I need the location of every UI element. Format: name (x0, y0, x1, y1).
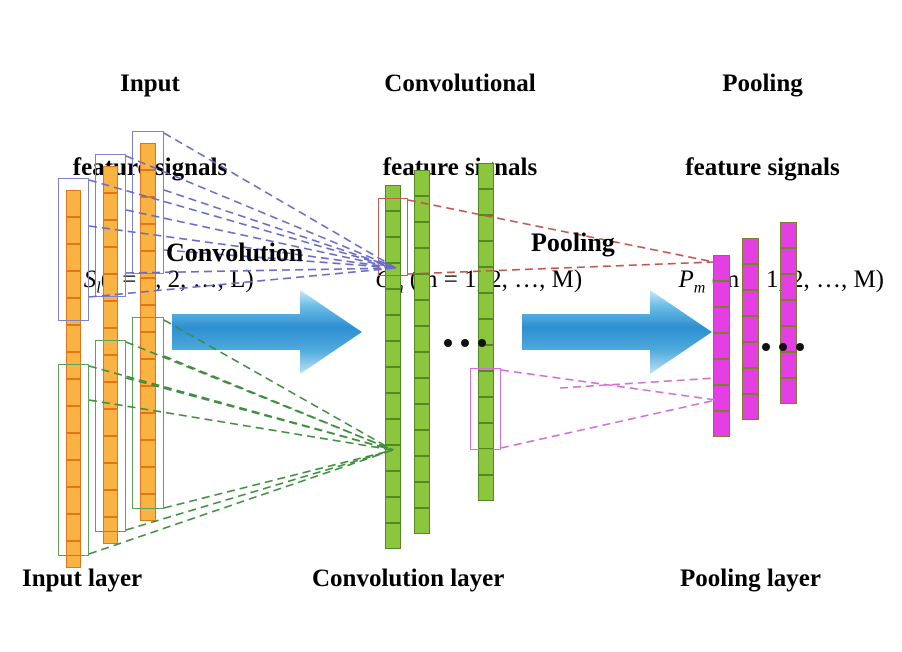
convolution-layer-cell (414, 508, 430, 534)
convolution-selection-box-red[interactable] (378, 198, 408, 276)
header-pool-line2: feature signals (630, 154, 895, 182)
header-pool-formula: Pm (m = 1, 2, …, M) (630, 238, 895, 326)
header-pool-subscript: m (694, 280, 706, 297)
convolution-layer-cell (385, 393, 401, 419)
pooling-layer-cell (742, 342, 759, 368)
convolution-layer-cell (385, 341, 401, 367)
ellipsis-dot (478, 339, 486, 347)
convolution-layer-cell (385, 471, 401, 497)
pooling-layer-cell (742, 290, 759, 316)
input-selection-box-top[interactable] (95, 154, 126, 297)
header-conv: Convolutional feature signals Cm (m = 1,… (310, 14, 610, 382)
ellipsis-dot (444, 339, 452, 347)
convolution-layer-cell (414, 404, 430, 430)
magenta-dashed-lines (501, 370, 716, 448)
header-conv-range: (m = 1, 2, …, M) (410, 266, 582, 293)
pooling-horizontal-ellipsis (762, 343, 813, 353)
convolution-layer-cell (385, 445, 401, 471)
convolution-layer-cell (478, 189, 494, 215)
pooling-layer-cell (713, 385, 730, 411)
convolution-layer-cell (414, 222, 430, 248)
header-pool-line1: Pooling (630, 70, 895, 98)
pooling-layer-cell (713, 411, 730, 437)
pooling-layer-cell (780, 378, 797, 404)
convolution-layer-cell (385, 523, 401, 549)
input-selection-box-bottom[interactable] (58, 364, 89, 556)
convolution-layer-cell (385, 289, 401, 315)
convolution-layer-cell (414, 326, 430, 352)
header-pool: Pooling feature signals Pm (m = 1, 2, …,… (630, 14, 895, 382)
pooling-layer-cell (780, 222, 797, 248)
header-pool-symbol: P (678, 266, 693, 293)
pooling-layer-cell (742, 264, 759, 290)
input-selection-box-top[interactable] (58, 178, 89, 321)
input-layer-cell (103, 301, 118, 328)
input-selection-box-bottom[interactable] (95, 340, 126, 532)
convolution-layer-cell (478, 163, 494, 189)
pooling-layer-cell (713, 281, 730, 307)
pooling-step-label: Pooling (531, 228, 615, 258)
pooling-layer-cell (713, 307, 730, 333)
convolution-layer-column[interactable] (414, 170, 430, 534)
pooling-layer-cell (780, 248, 797, 274)
convolution-layer-cell (478, 449, 494, 475)
pooling-layer-column[interactable] (742, 238, 759, 420)
ellipsis-dot (779, 343, 787, 351)
convolution-layer-cell (478, 475, 494, 501)
convolution-layer-cell (414, 482, 430, 508)
pooling-layer-cell (742, 394, 759, 420)
input-layer-cell (66, 325, 81, 352)
convolution-layer-cell (478, 215, 494, 241)
convolution-layer-cell (478, 241, 494, 267)
footer-convolution-layer: Convolution layer (312, 565, 504, 593)
pooling-layer-cell (713, 255, 730, 281)
ellipsis-dot (796, 343, 804, 351)
convolution-layer-cell (414, 430, 430, 456)
input-selection-box-bottom[interactable] (132, 317, 164, 509)
pooling-layer-cell (713, 359, 730, 385)
input-selection-box-top[interactable] (132, 131, 164, 274)
convolution-layer-cell (414, 456, 430, 482)
convolution-layer-cell (385, 367, 401, 393)
header-conv-line1: Convolutional (310, 70, 610, 98)
convolution-horizontal-ellipsis (444, 339, 495, 349)
header-input-line1: Input (10, 70, 290, 98)
pooling-layer-cell (780, 300, 797, 326)
convolution-layer-column[interactable] (478, 163, 494, 501)
pooling-layer-cell (780, 352, 797, 378)
convolution-layer-cell (414, 196, 430, 222)
convolution-layer-cell (414, 300, 430, 326)
footer-pooling-layer: Pooling layer (680, 565, 821, 593)
convolution-layer-cell (414, 248, 430, 274)
ellipsis-dot (762, 343, 770, 351)
convolution-layer-cell (385, 419, 401, 445)
convolution-layer-cell (385, 315, 401, 341)
footer-input-layer: Input layer (22, 565, 142, 593)
convolution-layer-cell (414, 352, 430, 378)
pooling-layer-cell (713, 333, 730, 359)
convolution-layer-cell (478, 267, 494, 293)
convolution-layer-cell (414, 378, 430, 404)
pooling-layer-cell (742, 368, 759, 394)
convolution-step-label: Convolution (166, 238, 303, 268)
pooling-layer-column[interactable] (713, 255, 730, 437)
convolution-selection-box-magenta[interactable] (470, 368, 501, 450)
header-conv-line2: feature signals (310, 154, 610, 182)
convolution-layer-cell (385, 497, 401, 523)
pooling-layer-cell (780, 274, 797, 300)
header-pool-range: (m = 1, 2, …, M) (712, 266, 884, 293)
pooling-layer-cell (742, 316, 759, 342)
convolution-layer-cell (414, 274, 430, 300)
pooling-layer-cell (742, 238, 759, 264)
ellipsis-dot (461, 339, 469, 347)
convolution-layer-cell (414, 170, 430, 196)
input-layer-cell (140, 278, 156, 305)
diagram-canvas: Input feature signals Sl(l = 1, 2, …, L)… (0, 0, 902, 652)
pooling-layer-column[interactable] (780, 222, 797, 404)
convolution-layer-cell (478, 293, 494, 319)
